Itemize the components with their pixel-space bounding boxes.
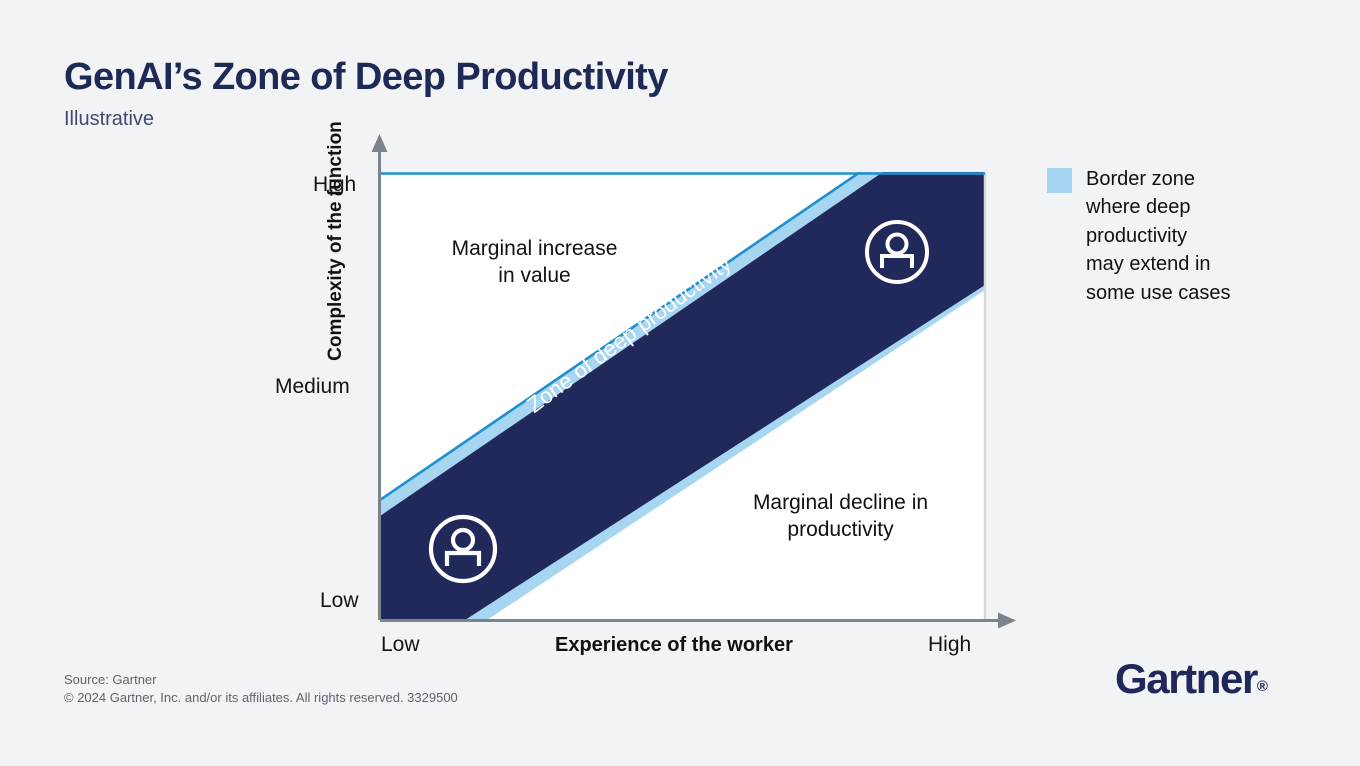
gartner-logo: Gartner® [1115,658,1268,700]
annotation-marginal-increase: Marginal increase in value [412,236,657,290]
worker-icon-high [867,222,927,282]
person-in-circle-icon-body [882,256,912,268]
x-axis-tick-low: Low [381,633,420,657]
person-in-circle-icon-head [453,530,473,550]
footer: Source: Gartner © 2024 Gartner, Inc. and… [64,671,458,707]
footer-copyright: © 2024 Gartner, Inc. and/or its affiliat… [64,689,458,707]
x-axis-tick-high: High [928,633,971,657]
legend: Border zone where deep productivity may … [1047,165,1317,307]
y-axis-tick-low: Low [320,589,359,613]
y-axis-title-wrapper: Complexity of the function [325,81,355,401]
y-axis-title: Complexity of the function [325,121,346,361]
worker-icon-low [431,517,495,581]
header: GenAI’s Zone of Deep Productivity Illust… [64,58,964,130]
person-in-circle-icon-ring [431,517,495,581]
page-subtitle: Illustrative [64,108,964,130]
person-in-circle-icon-ring [867,222,927,282]
registered-trademark-icon: ® [1257,678,1268,695]
x-axis-title: Experience of the worker [555,634,793,657]
person-in-circle-icon-body [447,553,479,566]
footer-source: Source: Gartner [64,671,458,689]
y-axis-arrowhead [372,134,388,152]
gartner-logo-text: Gartner [1115,655,1257,702]
person-in-circle-icon-head [888,235,907,254]
x-axis-arrowhead [998,613,1016,629]
legend-swatch-border-zone [1047,168,1072,193]
annotation-marginal-decline: Marginal decline in productivity [718,490,963,544]
legend-label-border-zone: Border zone where deep productivity may … [1086,165,1231,307]
page-title: GenAI’s Zone of Deep Productivity [64,58,964,98]
